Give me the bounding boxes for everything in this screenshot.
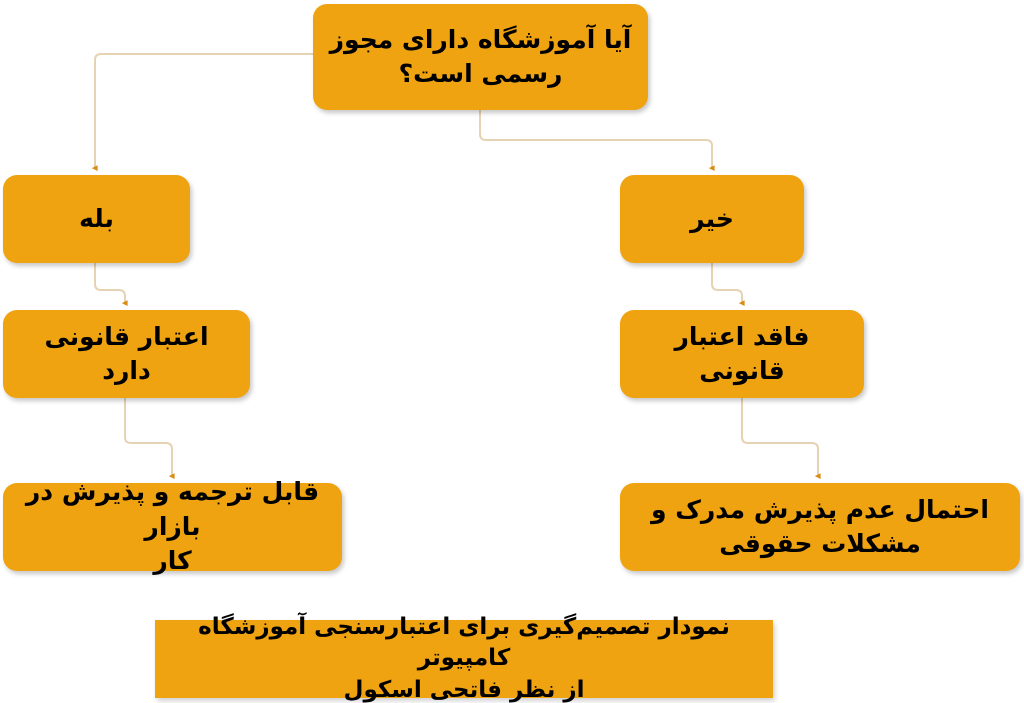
node-no[interactable]: خیر (620, 175, 804, 263)
edge-yes-to-valid (95, 263, 125, 303)
edge-valid-to-outcome-left (125, 398, 172, 476)
node-outcome-translatable-accepted-label: قابل ترجمه و پذیرش در بازار کار (17, 475, 328, 579)
node-not-legally-valid[interactable]: فاقد اعتبار قانونی (620, 310, 864, 398)
diagram-caption: نمودار تصمیم‌گیری برای اعتبارسنجی آموزشگ… (155, 620, 773, 698)
node-legally-valid-label: اعتبار قانونی دارد (17, 320, 236, 389)
node-no-label: خیر (634, 202, 790, 237)
node-outcome-rejection-legal-issues[interactable]: احتمال عدم پذیرش مدرک و مشکلات حقوقی (620, 483, 1020, 571)
diagram-caption-text: نمودار تصمیم‌گیری برای اعتبارسنجی آموزشگ… (165, 612, 763, 703)
edge-root-to-no (480, 110, 712, 168)
edge-root-to-yes (95, 54, 313, 168)
node-outcome-translatable-accepted[interactable]: قابل ترجمه و پذیرش در بازار کار (3, 483, 342, 571)
edge-invalid-to-outcome-right (742, 398, 818, 476)
node-yes-label: بله (17, 202, 176, 237)
node-outcome-rejection-legal-issues-label: احتمال عدم پذیرش مدرک و مشکلات حقوقی (634, 493, 1006, 562)
flowchart-canvas: آیا آموزشگاه دارای مجوز رسمی است؟ بله خی… (0, 0, 1024, 703)
node-not-legally-valid-label: فاقد اعتبار قانونی (634, 320, 850, 389)
node-legally-valid[interactable]: اعتبار قانونی دارد (3, 310, 250, 398)
node-root-question[interactable]: آیا آموزشگاه دارای مجوز رسمی است؟ (313, 4, 648, 110)
edge-no-to-invalid (712, 263, 742, 303)
node-root-question-label: آیا آموزشگاه دارای مجوز رسمی است؟ (327, 23, 634, 92)
node-yes[interactable]: بله (3, 175, 190, 263)
